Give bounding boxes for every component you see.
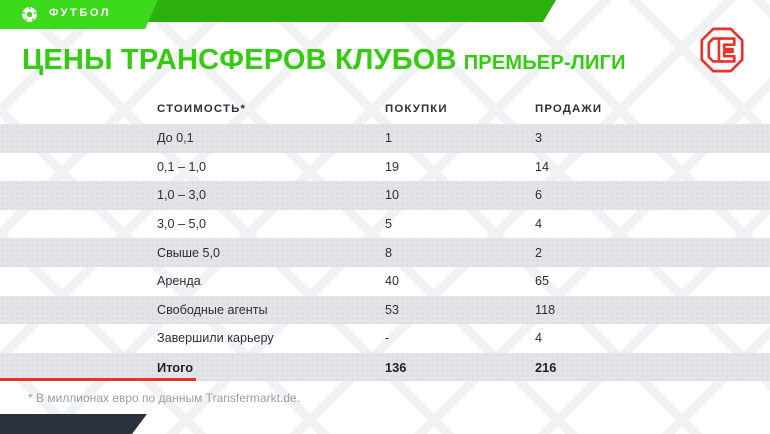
title-main: ЦЕНЫ ТРАНСФЕРОВ КЛУБОВ: [22, 44, 457, 76]
row-buys: -: [385, 331, 389, 345]
row-buys: 53: [385, 303, 399, 317]
table-row: Свыше 5,0 8 2: [0, 238, 770, 267]
row-buys: 19: [385, 160, 399, 174]
row-label: Свыше 5,0: [157, 246, 220, 260]
section-tab-football[interactable]: ФУТБОЛ: [0, 0, 158, 29]
row-label: Свободные агенты: [157, 303, 268, 317]
row-buys: 1: [385, 131, 392, 145]
row-buys: 10: [385, 188, 399, 202]
row-sales: 118: [535, 303, 555, 317]
column-header-sales: ПРОДАЖИ: [535, 103, 602, 115]
row-sales: 14: [535, 160, 549, 174]
section-tab-label: ФУТБОЛ: [49, 8, 111, 22]
table-row: 3,0 – 5,0 5 4: [0, 210, 770, 239]
table-row: До 0,1 1 3: [0, 124, 770, 153]
row-sales: 216: [535, 360, 556, 375]
table-header-row: СТОИМОСТЬ* ПОКУПКИ ПРОДАЖИ: [0, 93, 770, 124]
row-buys: 40: [385, 274, 399, 288]
row-sales: 2: [535, 246, 542, 260]
soccer-ball-icon: [21, 6, 38, 23]
row-label: Итого: [157, 360, 193, 375]
transfers-table: СТОИМОСТЬ* ПОКУПКИ ПРОДАЖИ До 0,1 1 3 0,…: [0, 93, 770, 381]
row-label: Аренда: [157, 274, 201, 288]
sport-express-logo-icon: [700, 27, 744, 73]
row-label: Завершили карьеру: [157, 331, 274, 345]
row-label: 0,1 – 1,0: [157, 160, 206, 174]
footer-dark-bar: [0, 414, 147, 434]
row-sales: 65: [535, 274, 549, 288]
row-buys: 5: [385, 217, 392, 231]
row-sales: 3: [535, 131, 542, 145]
table-row: 1,0 – 3,0 10 6: [0, 181, 770, 210]
row-label: 1,0 – 3,0: [157, 188, 206, 202]
row-label: 3,0 – 5,0: [157, 217, 206, 231]
title-sub: ПРЕМЬЕР-ЛИГИ: [464, 52, 626, 74]
row-sales: 4: [535, 331, 542, 345]
table-row: 0,1 – 1,0 19 14: [0, 153, 770, 182]
column-header-cost: СТОИМОСТЬ*: [157, 103, 246, 115]
column-header-buys: ПОКУПКИ: [385, 103, 448, 115]
row-sales: 6: [535, 188, 542, 202]
table-row: Завершили карьеру - 4: [0, 324, 770, 353]
table-row: Аренда 40 65: [0, 267, 770, 296]
infographic-card: ФУТБОЛ ЦЕНЫ ТРАНСФЕРОВ КЛУБОВПРЕМЬЕР-ЛИГ…: [0, 0, 770, 434]
page-title: ЦЕНЫ ТРАНСФЕРОВ КЛУБОВПРЕМЬЕР-ЛИГИ: [22, 44, 626, 77]
row-sales: 4: [535, 217, 542, 231]
footer-red-rule: [0, 378, 196, 381]
row-label: До 0,1: [157, 131, 194, 145]
table-row: Свободные агенты 53 118: [0, 296, 770, 325]
row-buys: 8: [385, 246, 392, 260]
row-buys: 136: [385, 360, 406, 375]
footnote-text: * В миллионах евро по данным Transfermar…: [28, 391, 300, 405]
